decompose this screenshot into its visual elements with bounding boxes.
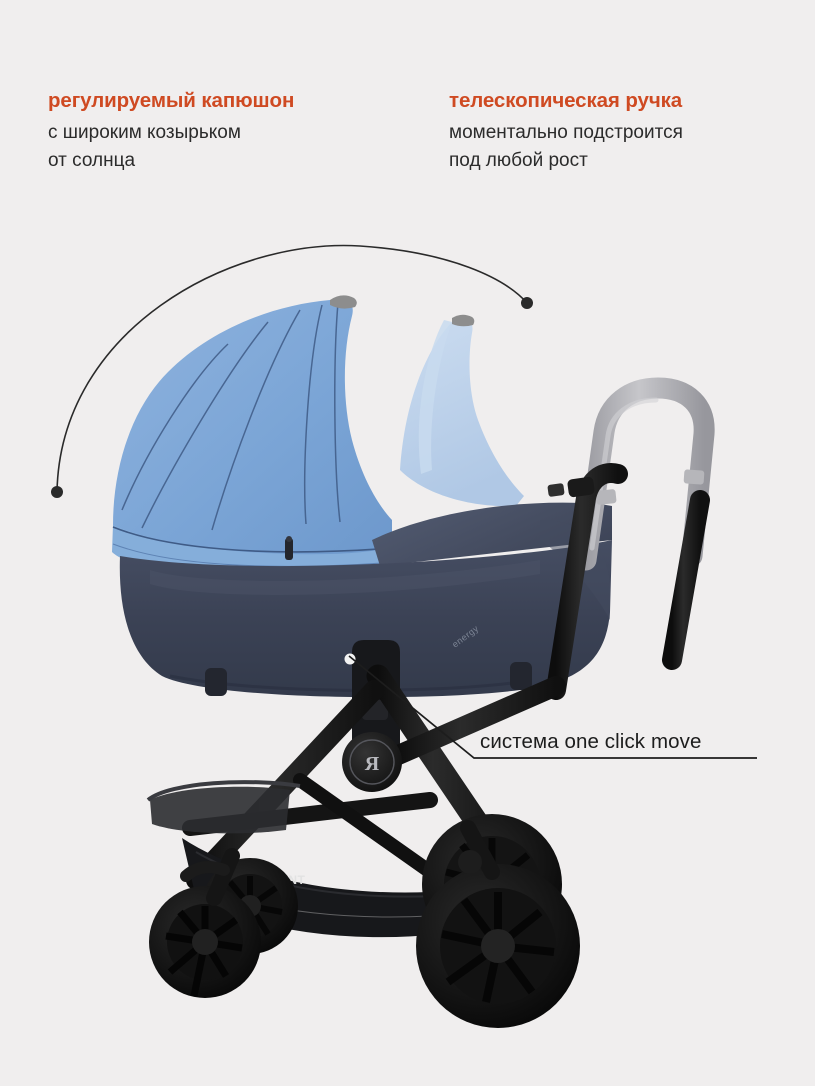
callout-telescopic-handle: телескопическая ручка моментально подстр… — [449, 88, 683, 175]
wheel-front-outer — [149, 886, 261, 998]
callout-hood-headline: регулируемый капюшон — [48, 88, 294, 114]
callout-hood-line-2: от солнца — [48, 147, 294, 175]
callout-handle-line-1: моментально подстроится — [449, 119, 683, 147]
label-one-click-move: система one click move — [480, 730, 701, 754]
callout-handle-headline: телескопическая ручка — [449, 88, 683, 114]
promo-stage: energy RANT — [0, 0, 815, 1086]
canopy-panel-light — [400, 318, 524, 506]
wheel-rear-outer — [416, 864, 580, 1028]
hub-logo-text: Я — [365, 753, 380, 775]
bassinet-foot-right — [510, 662, 532, 690]
canopy-main — [113, 300, 392, 556]
handle-black-right — [672, 500, 700, 660]
seat-panel — [150, 787, 290, 834]
callout-handle-line-2: под любой рост — [449, 147, 683, 175]
callout-adjustable-hood: регулируемый капюшон с широким козырьком… — [48, 88, 294, 175]
callout-hood-line-1: с широким козырьком — [48, 119, 294, 147]
canopy-tip — [330, 295, 357, 308]
bassinet-foot-left — [205, 668, 227, 696]
